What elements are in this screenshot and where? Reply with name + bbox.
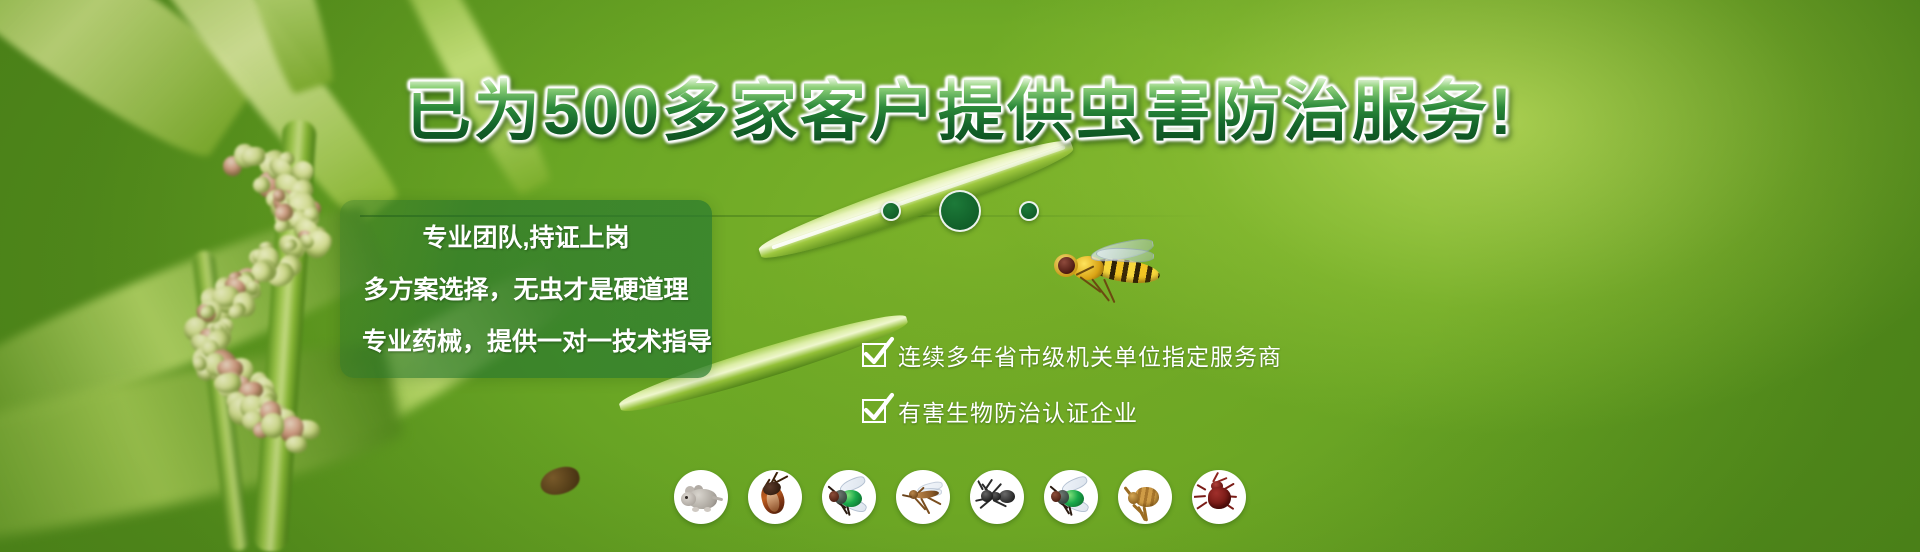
claim-line-3: 专业药械，提供一对一技术指导 bbox=[362, 322, 690, 358]
decor-dot-small-right bbox=[1019, 201, 1039, 221]
ant-icon[interactable] bbox=[970, 470, 1024, 524]
fly-icon-glyph bbox=[827, 477, 871, 517]
checkbox-checked-icon bbox=[862, 399, 886, 423]
claim-line-2: 多方案选择，无虫才是硬道理 bbox=[362, 270, 690, 306]
mosquito-icon[interactable] bbox=[896, 470, 950, 524]
bedbug-leg bbox=[1194, 483, 1206, 491]
hoverfly-head bbox=[1054, 254, 1078, 277]
flea-icon[interactable] bbox=[1118, 470, 1172, 524]
certification-row: 连续多年省市级机关单位指定服务商 bbox=[862, 338, 1282, 372]
mosquito-icon-glyph bbox=[901, 477, 945, 517]
certification-row: 有害生物防治认证企业 bbox=[862, 394, 1282, 428]
bedbug-leg bbox=[1193, 495, 1206, 498]
page-title: 已为500多家客户提供虫害防治服务! bbox=[0, 78, 1920, 144]
mouse-foot bbox=[704, 507, 711, 512]
mouse-eye bbox=[685, 496, 688, 499]
ant-abdomen bbox=[999, 490, 1015, 503]
bedbug-icon-glyph bbox=[1197, 477, 1241, 517]
certification-list: 连续多年省市级机关单位指定服务商有害生物防治认证企业 bbox=[862, 338, 1282, 428]
cockroach-icon-glyph bbox=[753, 477, 797, 517]
mouse-icon-glyph bbox=[679, 477, 723, 517]
flea-icon-glyph bbox=[1123, 477, 1167, 517]
ant-head bbox=[981, 490, 993, 502]
ant-icon-glyph bbox=[975, 477, 1019, 517]
bedbug-icon[interactable] bbox=[1192, 470, 1246, 524]
checkbox-checked-icon bbox=[862, 343, 886, 367]
claims-panel: 专业团队,持证上岗 多方案选择，无虫才是硬道理 专业药械，提供一对一技术指导 bbox=[340, 200, 712, 378]
mouse-icon[interactable] bbox=[674, 470, 728, 524]
fly-icon[interactable] bbox=[822, 470, 876, 524]
decor-dot-small-left bbox=[881, 201, 901, 221]
hoverfly-eye bbox=[1058, 257, 1075, 274]
mouse-head bbox=[681, 492, 696, 506]
bedbug-leg bbox=[1196, 501, 1208, 510]
fly-head bbox=[829, 491, 839, 502]
mouse-foot bbox=[692, 507, 699, 512]
pest-control-hero-banner: 已为500多家客户提供虫害防治服务! 专业团队,持证上岗 多方案选择，无虫才是硬… bbox=[0, 0, 1920, 552]
fly-head bbox=[1051, 491, 1061, 502]
cockroach-icon[interactable] bbox=[748, 470, 802, 524]
bedbug-body bbox=[1208, 487, 1231, 509]
decor-dot-large-center bbox=[939, 190, 981, 232]
flea-head bbox=[1128, 492, 1139, 504]
decorative-dots bbox=[0, 190, 1920, 232]
blowfly-icon[interactable] bbox=[1044, 470, 1098, 524]
certification-label: 连续多年省市级机关单位指定服务商 bbox=[898, 338, 1282, 372]
certification-label: 有害生物防治认证企业 bbox=[898, 394, 1138, 428]
aphid-bud bbox=[261, 413, 285, 439]
claim-line-1: 专业团队,持证上岗 bbox=[362, 218, 690, 254]
hoverfly-photo bbox=[1046, 246, 1164, 302]
pest-icon-strip bbox=[0, 470, 1920, 524]
ant-antenna bbox=[984, 479, 993, 491]
blowfly-icon-glyph bbox=[1049, 477, 1093, 517]
aphid-bud bbox=[285, 436, 307, 453]
